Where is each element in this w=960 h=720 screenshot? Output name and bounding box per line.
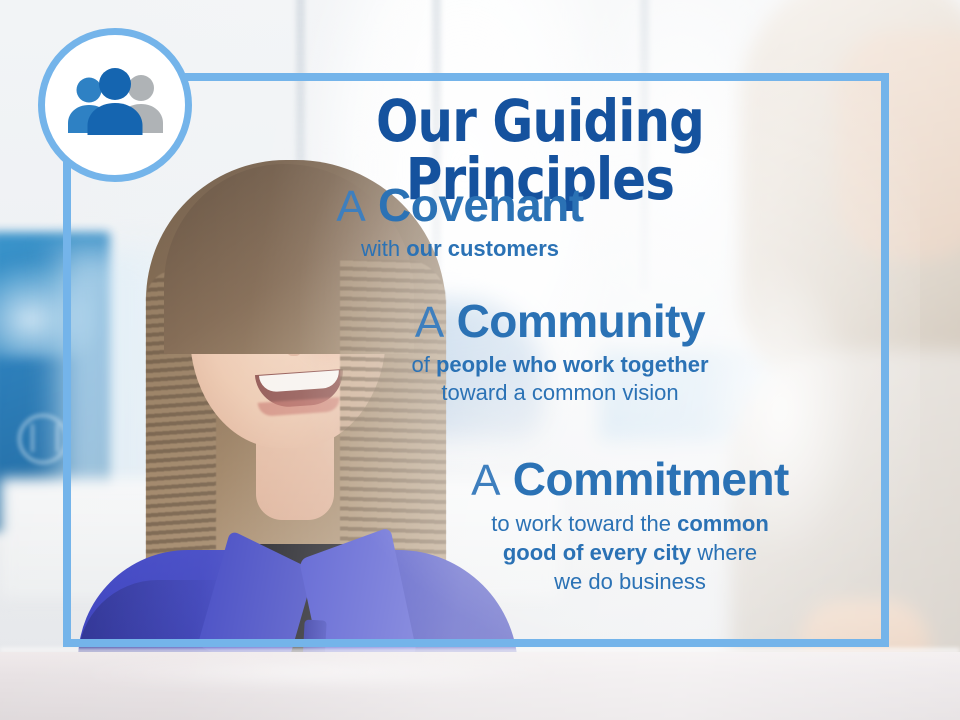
subtext-run: of: [411, 352, 435, 377]
principle-article: A: [471, 456, 500, 505]
subtext-emphasis: good of every city: [503, 540, 691, 565]
principle-commitment: A Commitment to work toward the commongo…: [380, 456, 880, 596]
subtext-emphasis: people who work together: [436, 352, 709, 377]
subtext-run: toward a common vision: [441, 380, 678, 405]
people-group-icon: [63, 67, 167, 143]
principle-subtext: of people who work togethertoward a comm…: [300, 351, 820, 407]
principle-keyword: Commitment: [513, 453, 789, 505]
subtext-line: with our customers: [250, 235, 670, 263]
principle-subtext: with our customers: [250, 235, 670, 263]
subtext-run: where: [691, 540, 757, 565]
principle-article: A: [336, 182, 365, 231]
subtext-run: with: [361, 236, 406, 261]
subtext-run: we do business: [554, 569, 706, 594]
subtext-line: of people who work together: [300, 351, 820, 379]
subtext-emphasis: common: [677, 511, 769, 536]
principle-community: A Community of people who work togethert…: [300, 298, 820, 407]
principle-covenant: A Covenant with our customers: [250, 182, 670, 263]
people-badge: [38, 28, 192, 182]
subtext-line: good of every city where: [380, 538, 880, 567]
subtext-line: toward a common vision: [300, 379, 820, 407]
principle-keyword: Community: [457, 295, 706, 347]
subtext-run: to work toward the: [491, 511, 677, 536]
principle-keyword: Covenant: [378, 179, 584, 231]
principle-heading: A Covenant: [250, 182, 670, 230]
subtext-emphasis: our customers: [406, 236, 559, 261]
principle-article: A: [415, 298, 444, 347]
subtext-line: to work toward the common: [380, 509, 880, 538]
principle-heading: A Commitment: [380, 456, 880, 504]
principle-subtext: to work toward the commongood of every c…: [380, 509, 880, 596]
principle-heading: A Community: [300, 298, 820, 346]
subtext-line: we do business: [380, 567, 880, 596]
guiding-principles-graphic: FLOW AUTOMOTIVE FLOW: [0, 0, 960, 720]
